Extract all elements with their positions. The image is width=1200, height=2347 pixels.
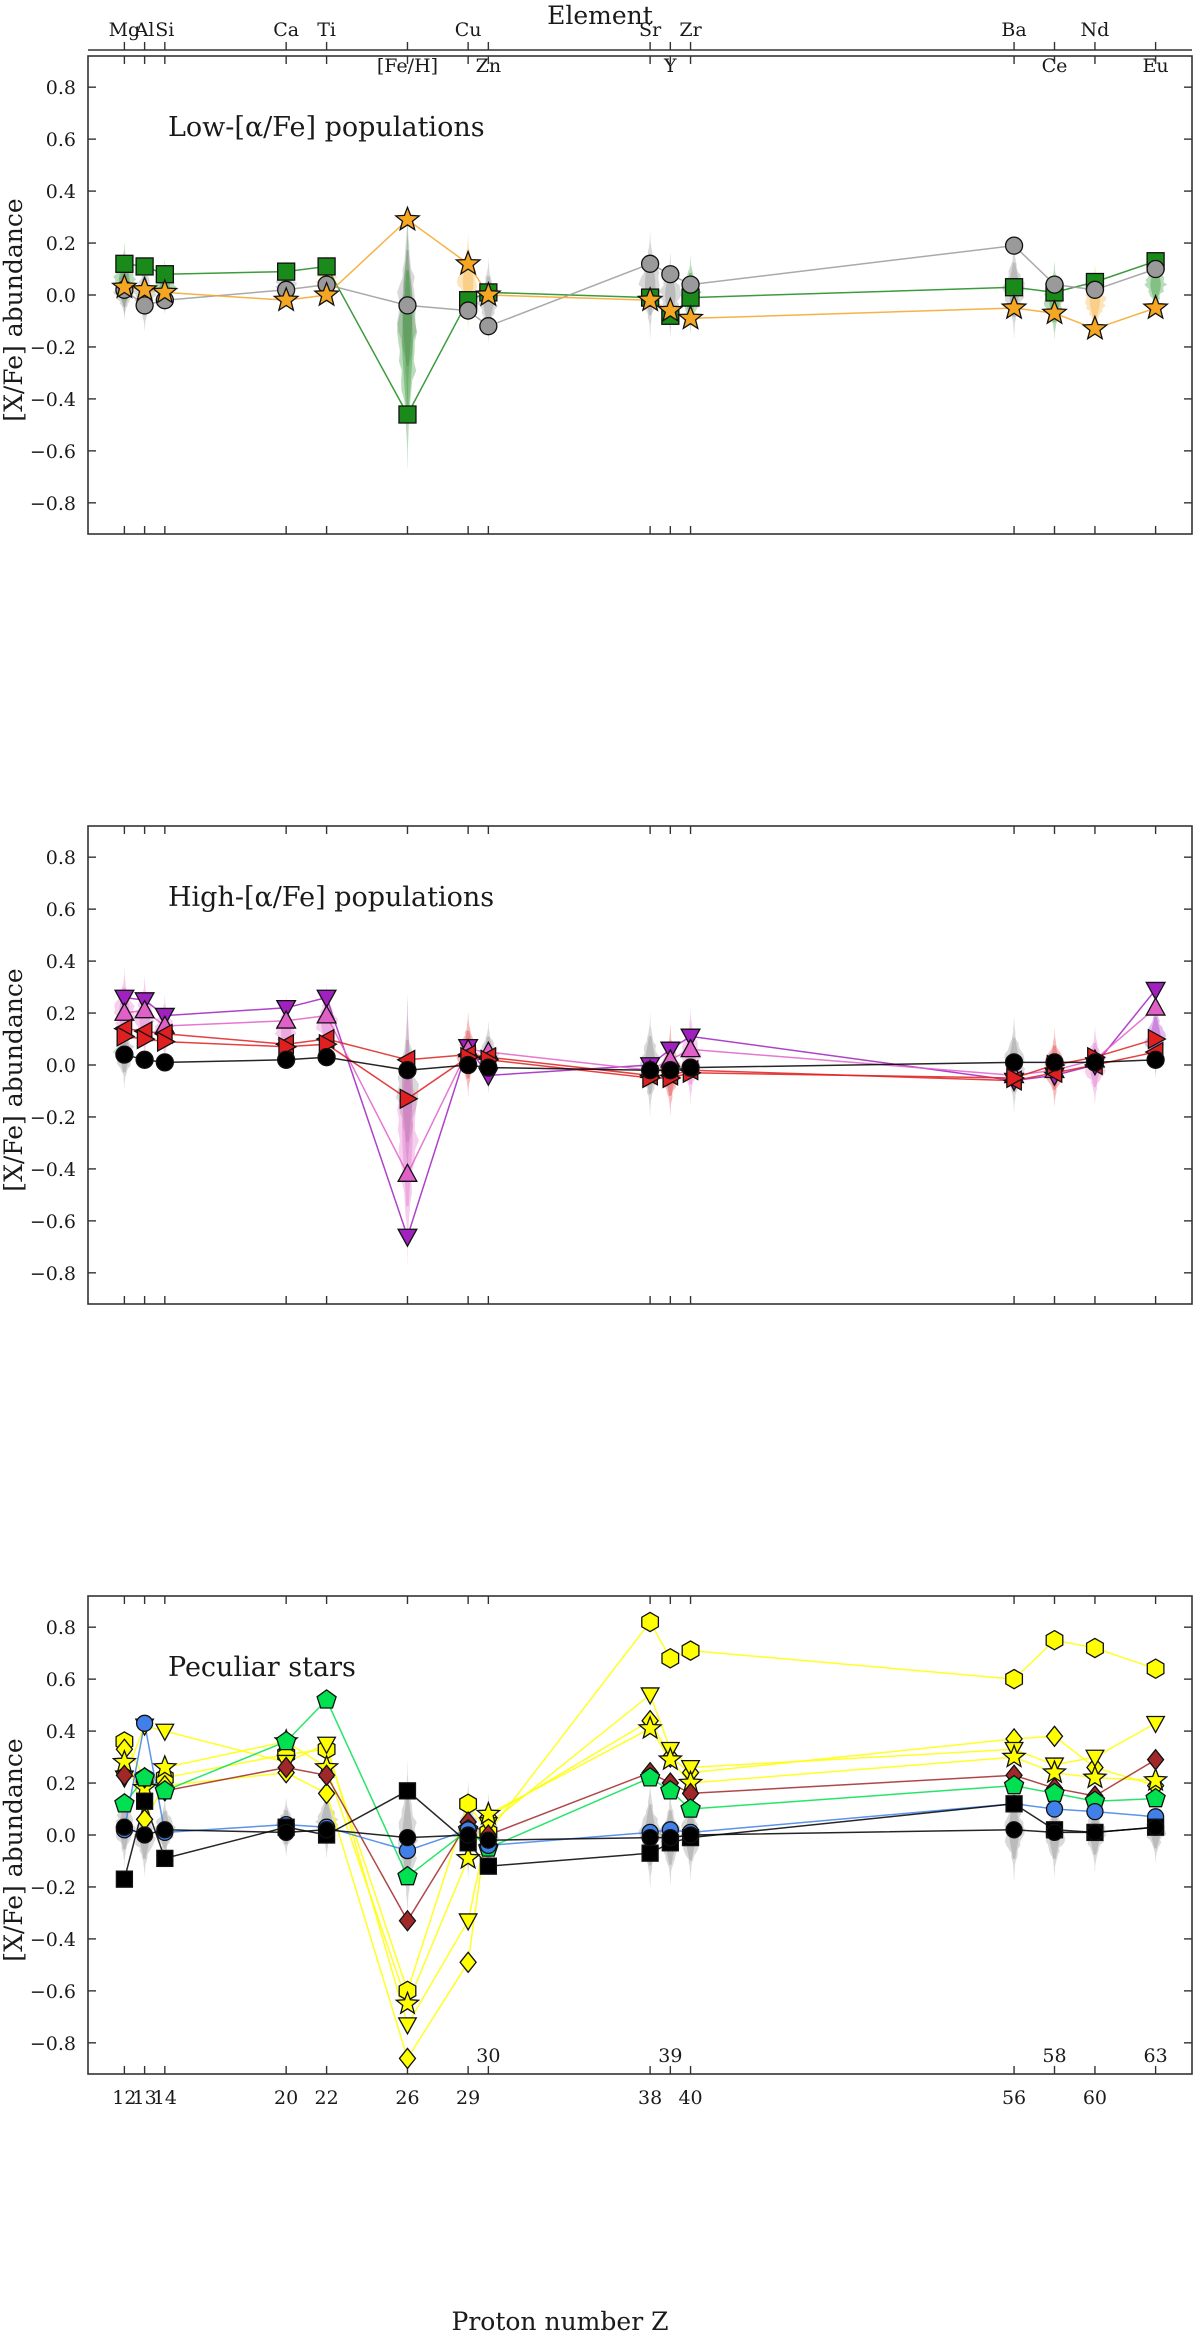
marker-green-squares-22 bbox=[318, 258, 335, 275]
y-axis-tick-label: 0.6 bbox=[46, 899, 76, 921]
marker-black-circles-pec-30 bbox=[480, 1832, 496, 1848]
marker-grey-circles-29 bbox=[460, 302, 477, 319]
x-axis-tick-label-38: 38 bbox=[638, 2087, 662, 2109]
marker-black-circles-40 bbox=[682, 1059, 699, 1076]
marker-black-circles-pec-13 bbox=[137, 1827, 153, 1843]
marker-yellow-hexagons-56 bbox=[1006, 1670, 1023, 1689]
marker-green-squares-12 bbox=[116, 255, 133, 272]
marker-green-squares-56 bbox=[1006, 279, 1023, 296]
marker-black-circles-60 bbox=[1086, 1054, 1103, 1071]
element-label-ba: Ba bbox=[1001, 19, 1026, 41]
y-axis-tick-label: −0.8 bbox=[30, 2033, 76, 2055]
top-axis-title: Element bbox=[547, 1, 653, 30]
y-axis-tick-label: −0.8 bbox=[30, 493, 76, 515]
marker-yellow-hexagons-38 bbox=[642, 1612, 659, 1631]
marker-black-circles-14 bbox=[156, 1054, 173, 1071]
y-axis-tick-label: 0.0 bbox=[46, 1825, 76, 1847]
panel-annotation-low-alpha: Low-[α/Fe] populations bbox=[168, 112, 485, 143]
y-axis-tick-label: 0.0 bbox=[46, 1055, 76, 1077]
marker-black-circles-pec-14 bbox=[157, 1822, 173, 1838]
marker-yellow-hexagons-63 bbox=[1147, 1659, 1164, 1678]
x-axis-tick-label-20: 20 bbox=[274, 2087, 298, 2109]
y-axis-tick-label: −0.2 bbox=[30, 337, 76, 359]
marker-green-squares-13 bbox=[136, 258, 153, 275]
x-axis-tick-label-63: 63 bbox=[1144, 2045, 1168, 2067]
y-axis-title-panel1: [X/Fe] abundance bbox=[0, 198, 28, 421]
element-label-ti: Ti bbox=[317, 19, 336, 41]
x-axis-tick-label-22: 22 bbox=[314, 2087, 338, 2109]
y-axis-tick-label: 0.0 bbox=[46, 285, 76, 307]
marker-black-circles-pec-63 bbox=[1148, 1819, 1164, 1835]
y-axis-tick-label: 0.2 bbox=[46, 233, 76, 255]
marker-grey-circles-56 bbox=[1006, 237, 1023, 254]
marker-black-circles-20 bbox=[278, 1051, 295, 1068]
y-axis-tick-label: 0.2 bbox=[46, 1773, 76, 1795]
x-axis-title: Proton number Z bbox=[452, 2307, 669, 2336]
marker-black-circles-pec-58 bbox=[1047, 1824, 1063, 1840]
marker-black-squares-26 bbox=[399, 1783, 415, 1799]
element-label-sr: Sr bbox=[639, 19, 662, 41]
element-label-ca: Ca bbox=[273, 19, 299, 41]
y-axis-tick-label: −0.4 bbox=[30, 1159, 76, 1181]
marker-black-circles-pec-12 bbox=[116, 1819, 132, 1835]
element-label-al: Al bbox=[134, 19, 155, 41]
element-label-si: Si bbox=[155, 19, 174, 41]
y-axis-tick-label: −0.2 bbox=[30, 1877, 76, 1899]
marker-black-circles-pec-22 bbox=[319, 1822, 335, 1838]
marker-grey-circles-60 bbox=[1086, 281, 1103, 298]
marker-black-circles-22 bbox=[318, 1049, 335, 1066]
marker-black-circles-pec-39 bbox=[662, 1830, 678, 1846]
marker-black-circles-58 bbox=[1046, 1054, 1063, 1071]
marker-black-squares-12 bbox=[116, 1871, 132, 1887]
marker-black-squares-38 bbox=[642, 1845, 658, 1861]
marker-black-squares-30 bbox=[480, 1858, 496, 1874]
marker-yellow-hexagons-40 bbox=[682, 1641, 699, 1660]
y-axis-tick-label: 0.4 bbox=[46, 1721, 76, 1743]
marker-black-circles-39 bbox=[662, 1062, 679, 1079]
marker-black-circles-30 bbox=[480, 1059, 497, 1076]
marker-blue-circles-58 bbox=[1047, 1801, 1063, 1817]
y-axis-tick-label: −0.2 bbox=[30, 1107, 76, 1129]
marker-black-squares-13 bbox=[137, 1793, 153, 1809]
y-axis-tick-label: −0.4 bbox=[30, 389, 76, 411]
x-axis-tick-label-39: 39 bbox=[658, 2045, 682, 2067]
marker-yellow-hexagons-60 bbox=[1087, 1638, 1104, 1657]
marker-black-circles-13 bbox=[136, 1051, 153, 1068]
marker-yellow-hexagons-29 bbox=[460, 1794, 477, 1813]
marker-black-circles-29 bbox=[460, 1057, 477, 1074]
marker-grey-circles-63 bbox=[1147, 261, 1164, 278]
element-label-cu: Cu bbox=[455, 19, 482, 41]
marker-black-circles-pec-29 bbox=[460, 1827, 476, 1843]
y-axis-tick-label: −0.6 bbox=[30, 1981, 76, 2003]
y-axis-tick-label: −0.4 bbox=[30, 1929, 76, 1951]
abundance-figure: Element [X/Fe] abundance [X/Fe] abundanc… bbox=[0, 0, 1200, 2347]
marker-black-circles-pec-38 bbox=[642, 1830, 658, 1846]
panel-annotation-peculiar: Peculiar stars bbox=[168, 1652, 356, 1683]
y-axis-tick-label: 0.8 bbox=[46, 77, 76, 99]
marker-yellow-hexagons-58 bbox=[1046, 1631, 1063, 1650]
y-axis-title-panel2: [X/Fe] abundance bbox=[0, 968, 28, 1191]
marker-black-circles-56 bbox=[1006, 1054, 1023, 1071]
y-axis-tick-label: 0.6 bbox=[46, 129, 76, 151]
marker-green-squares-26 bbox=[399, 406, 416, 423]
element-label-zr: Zr bbox=[679, 19, 702, 41]
marker-black-circles-12 bbox=[116, 1046, 133, 1063]
figure-background bbox=[0, 0, 1200, 2347]
x-axis-tick-label-29: 29 bbox=[456, 2087, 480, 2109]
y-axis-title-panel3: [X/Fe] abundance bbox=[0, 1738, 28, 1961]
x-axis-tick-label-30: 30 bbox=[476, 2045, 500, 2067]
y-axis-tick-label: −0.6 bbox=[30, 441, 76, 463]
marker-black-circles-pec-56 bbox=[1006, 1822, 1022, 1838]
marker-grey-circles-40 bbox=[682, 276, 699, 293]
marker-black-circles-pec-40 bbox=[683, 1827, 699, 1843]
marker-grey-circles-30 bbox=[480, 318, 497, 335]
marker-black-circles-pec-20 bbox=[278, 1824, 294, 1840]
y-axis-tick-label: 0.8 bbox=[46, 1617, 76, 1639]
marker-black-circles-38 bbox=[642, 1062, 659, 1079]
x-axis-tick-label-14: 14 bbox=[153, 2087, 177, 2109]
y-axis-tick-label: −0.8 bbox=[30, 1263, 76, 1285]
marker-black-circles-63 bbox=[1147, 1051, 1164, 1068]
x-axis-tick-label-26: 26 bbox=[395, 2087, 419, 2109]
marker-grey-circles-58 bbox=[1046, 276, 1063, 293]
panel-annotation-high-alpha: High-[α/Fe] populations bbox=[168, 882, 494, 913]
marker-grey-circles-38 bbox=[642, 255, 659, 272]
marker-grey-circles-39 bbox=[662, 266, 679, 283]
y-axis-tick-label: 0.4 bbox=[46, 951, 76, 973]
x-axis-tick-label-56: 56 bbox=[1002, 2087, 1026, 2109]
marker-yellow-hexagons-39 bbox=[662, 1649, 679, 1668]
marker-green-squares-20 bbox=[278, 263, 295, 280]
x-axis-tick-label-60: 60 bbox=[1083, 2087, 1107, 2109]
marker-black-squares-56 bbox=[1006, 1796, 1022, 1812]
marker-black-circles-pec-26 bbox=[399, 1830, 415, 1846]
marker-blue-circles-13 bbox=[137, 1715, 153, 1731]
figure-root: Element [X/Fe] abundance [X/Fe] abundanc… bbox=[0, 0, 1200, 2347]
y-axis-tick-label: 0.4 bbox=[46, 181, 76, 203]
marker-black-circles-pec-60 bbox=[1087, 1824, 1103, 1840]
marker-black-circles-26 bbox=[399, 1062, 416, 1079]
y-axis-tick-label: 0.8 bbox=[46, 847, 76, 869]
marker-blue-circles-60 bbox=[1087, 1804, 1103, 1820]
y-axis-tick-label: −0.6 bbox=[30, 1211, 76, 1233]
x-axis-tick-label-40: 40 bbox=[678, 2087, 702, 2109]
marker-black-squares-14 bbox=[157, 1850, 173, 1866]
element-label-nd: Nd bbox=[1081, 19, 1110, 41]
marker-grey-circles-26 bbox=[399, 297, 416, 314]
y-axis-tick-label: 0.6 bbox=[46, 1669, 76, 1691]
y-axis-tick-label: 0.2 bbox=[46, 1003, 76, 1025]
x-axis-tick-label-58: 58 bbox=[1042, 2045, 1066, 2067]
